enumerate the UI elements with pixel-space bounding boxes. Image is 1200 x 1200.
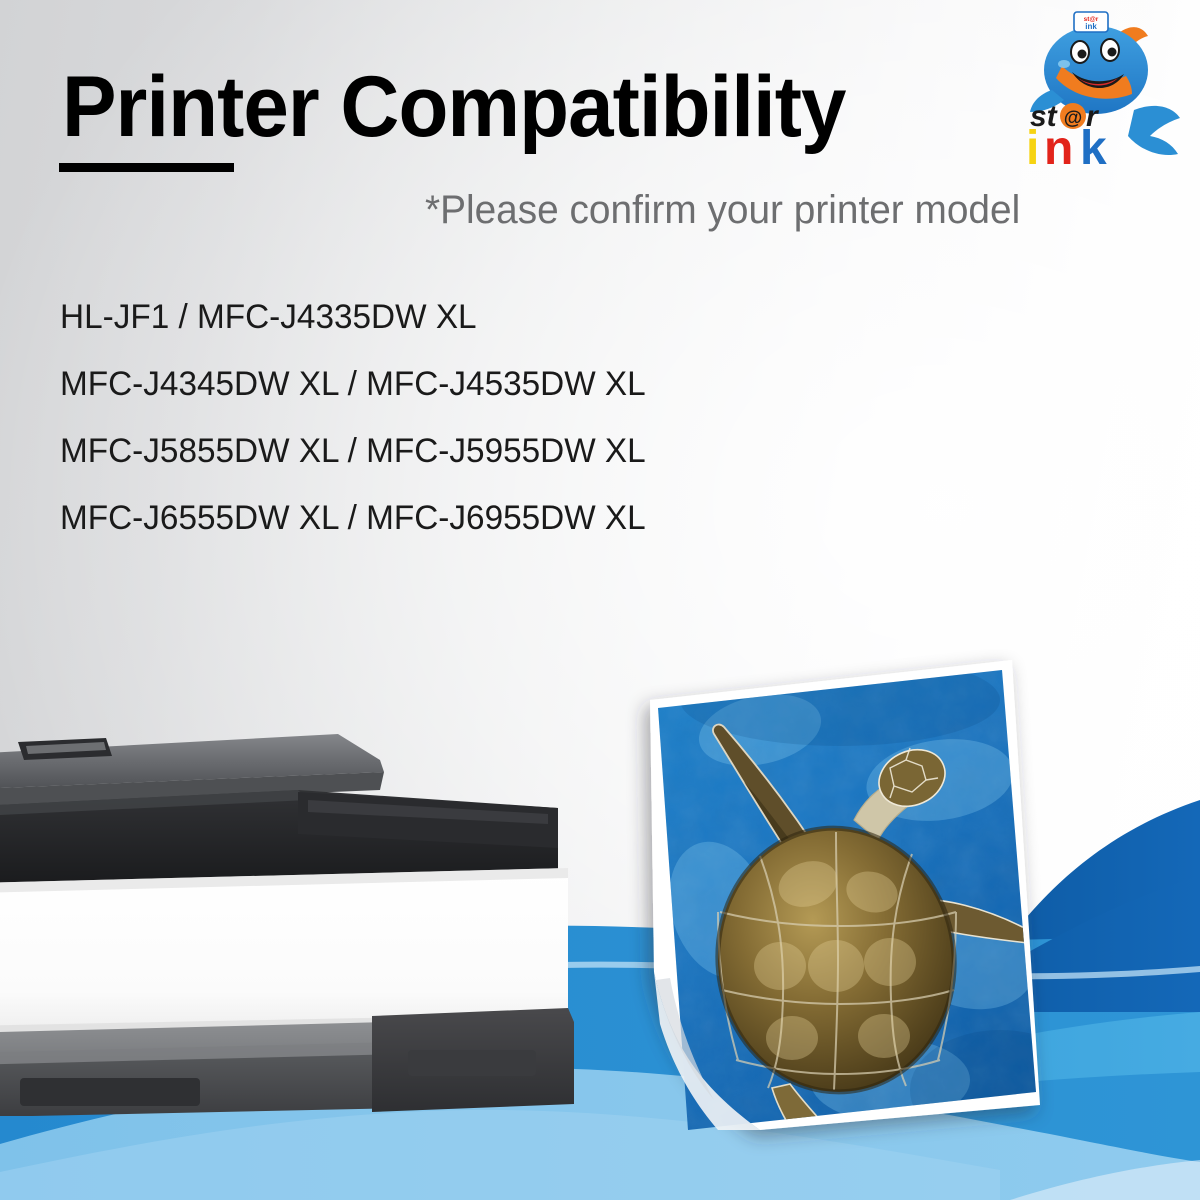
svg-text:n: n bbox=[1044, 122, 1073, 168]
model-line: MFC-J5855DW XL / MFC-J5955DW XL bbox=[60, 434, 864, 468]
compatible-models-list: HL-JF1 / MFC-J4335DW XL MFC-J4345DW XL /… bbox=[60, 300, 880, 568]
printer-tray-handle bbox=[20, 1078, 200, 1106]
printer-paper-tray bbox=[0, 1022, 408, 1116]
model-line: HL-JF1 / MFC-J4335DW XL bbox=[60, 300, 864, 334]
svg-text:k: k bbox=[1080, 122, 1107, 168]
page-subtitle: *Please confirm your printer model bbox=[425, 188, 1020, 233]
title-underline-bar bbox=[59, 163, 234, 172]
logo-wordmark-ink: i n k bbox=[1026, 122, 1107, 168]
sea-turtle-photo-print bbox=[640, 660, 1040, 1130]
printer-right-door bbox=[372, 1008, 574, 1112]
svg-text:ink: ink bbox=[1085, 22, 1097, 31]
svg-text:i: i bbox=[1026, 122, 1039, 168]
model-line: MFC-J6555DW XL / MFC-J6955DW XL bbox=[60, 501, 864, 535]
model-line: MFC-J4345DW XL / MFC-J4535DW XL bbox=[60, 367, 864, 401]
brand-logo: st@r ink st @ r bbox=[1022, 6, 1182, 168]
promo-image-canvas: ? bbox=[0, 0, 1200, 1200]
dolphin-tail-fin bbox=[1128, 106, 1180, 155]
printer-illustration: ? bbox=[0, 716, 608, 1116]
dolphin-blush bbox=[1058, 60, 1070, 68]
page-title: Printer Compatibility bbox=[62, 64, 917, 150]
dolphin-cap: st@r ink bbox=[1074, 12, 1108, 32]
